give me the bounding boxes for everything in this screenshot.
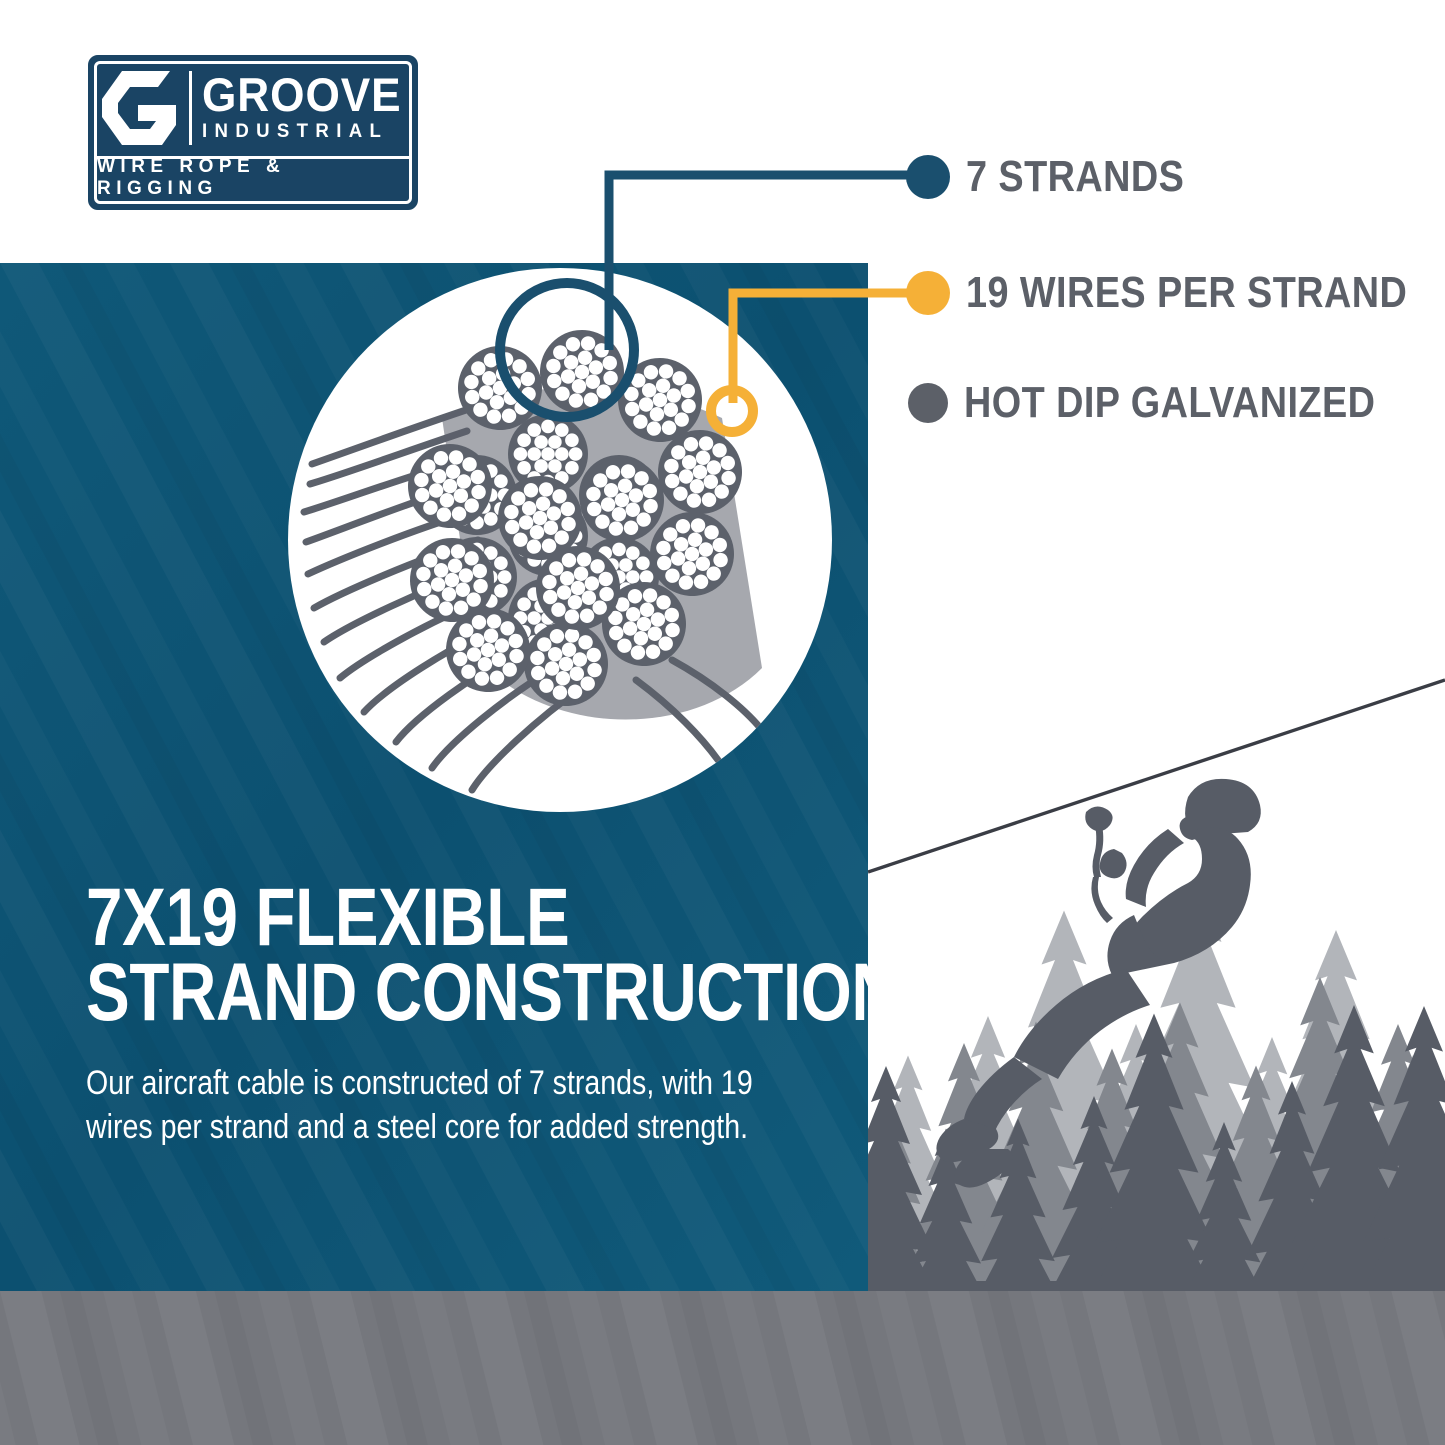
zipline-forest-scene [868, 263, 1445, 1291]
logo-sub-brand: INDUSTRIAL [202, 121, 410, 143]
infographic-canvas: 7 STRANDS 19 WIRES PER STRAND HOT DIP GA… [0, 0, 1445, 1445]
body-copy: Our aircraft cable is constructed of 7 s… [86, 1061, 758, 1149]
bottom-band-texture [0, 1291, 1445, 1445]
logo-brand: GROOVE [202, 73, 402, 118]
bottom-band [0, 1291, 1445, 1445]
callout-label: 7 STRANDS [966, 152, 1184, 202]
groove-g-hexagon-icon [97, 68, 185, 148]
groove-industrial-logo[interactable]: GROOVE INDUSTRIAL WIRE ROPE & RIGGING [88, 55, 418, 210]
logo-wordmark: GROOVE INDUSTRIAL [202, 73, 420, 144]
logo-divider [189, 71, 192, 145]
headline-line-2: STRAND CONSTRUCTION [86, 955, 694, 1030]
logo-top-row: GROOVE INDUSTRIAL [97, 64, 409, 152]
headline-block: 7X19 FLEXIBLE STRAND CONSTRUCTION Our ai… [86, 880, 846, 1149]
logo-tagline: WIRE ROPE & RIGGING [97, 156, 409, 200]
callout-7-strands[interactable]: 7 STRANDS [906, 152, 1220, 202]
logo-tagline-bar: WIRE ROPE & RIGGING [97, 161, 409, 194]
scene-art [868, 263, 1445, 1291]
wire-rope-cross-section [292, 268, 837, 813]
navy-dot-icon [906, 155, 950, 199]
headline-line-1: 7X19 FLEXIBLE [86, 880, 694, 955]
wire-highlight-ring [711, 390, 753, 432]
